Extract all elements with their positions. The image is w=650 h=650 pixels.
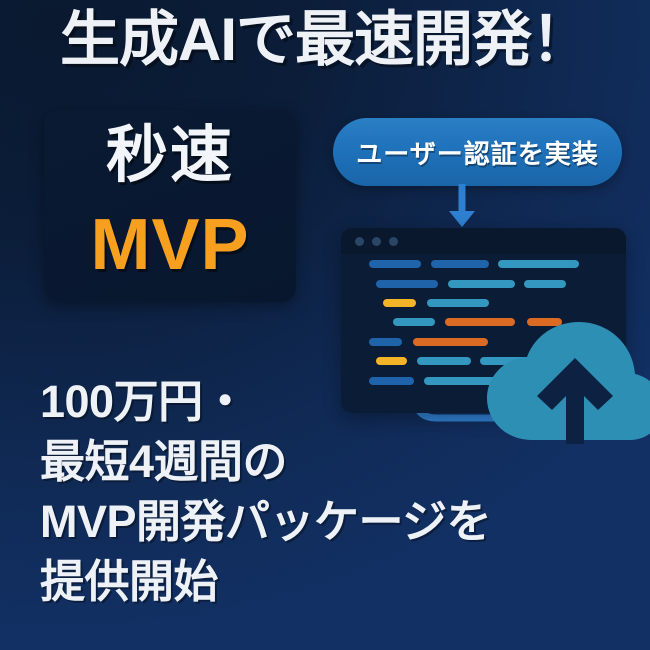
code-line (413, 338, 488, 346)
window-dot-3 (389, 237, 398, 246)
code-line (369, 260, 421, 268)
illustration: ユーザー認証を実装 (325, 100, 650, 450)
body-copy-line-4: 提供開始 (40, 552, 620, 612)
code-line (376, 280, 438, 288)
code-line (376, 357, 407, 365)
code-line (431, 260, 489, 268)
badge-top-label: 秒速 (44, 120, 296, 191)
code-line (498, 260, 579, 268)
body-copy-line-3: MVP開発パッケージを (40, 492, 620, 552)
page-title: 生成AIで最速開発！ (0, 8, 650, 71)
code-window-titlebar (341, 228, 626, 254)
code-line (448, 280, 515, 288)
poster-canvas: 生成AIで最速開発！ 秒速 MVP 100万円・ 最短4週間の MVP開発パッケ… (0, 0, 650, 650)
speed-mvp-badge: 秒速 MVP (44, 110, 296, 302)
code-line (417, 357, 471, 365)
code-line (383, 299, 416, 307)
code-line (524, 280, 566, 288)
code-line (369, 338, 402, 346)
code-line (393, 318, 435, 326)
window-dot-2 (372, 237, 381, 246)
cloud-upload-icon (485, 322, 650, 447)
prompt-pill: ユーザー認証を実装 (333, 118, 622, 186)
prompt-pill-label: ユーザー認証を実装 (333, 118, 622, 186)
code-line (369, 377, 414, 385)
window-dot-1 (355, 237, 364, 246)
code-line (427, 299, 489, 307)
badge-bottom-label: MVP (44, 206, 296, 285)
arrow-down-icon (447, 184, 477, 230)
